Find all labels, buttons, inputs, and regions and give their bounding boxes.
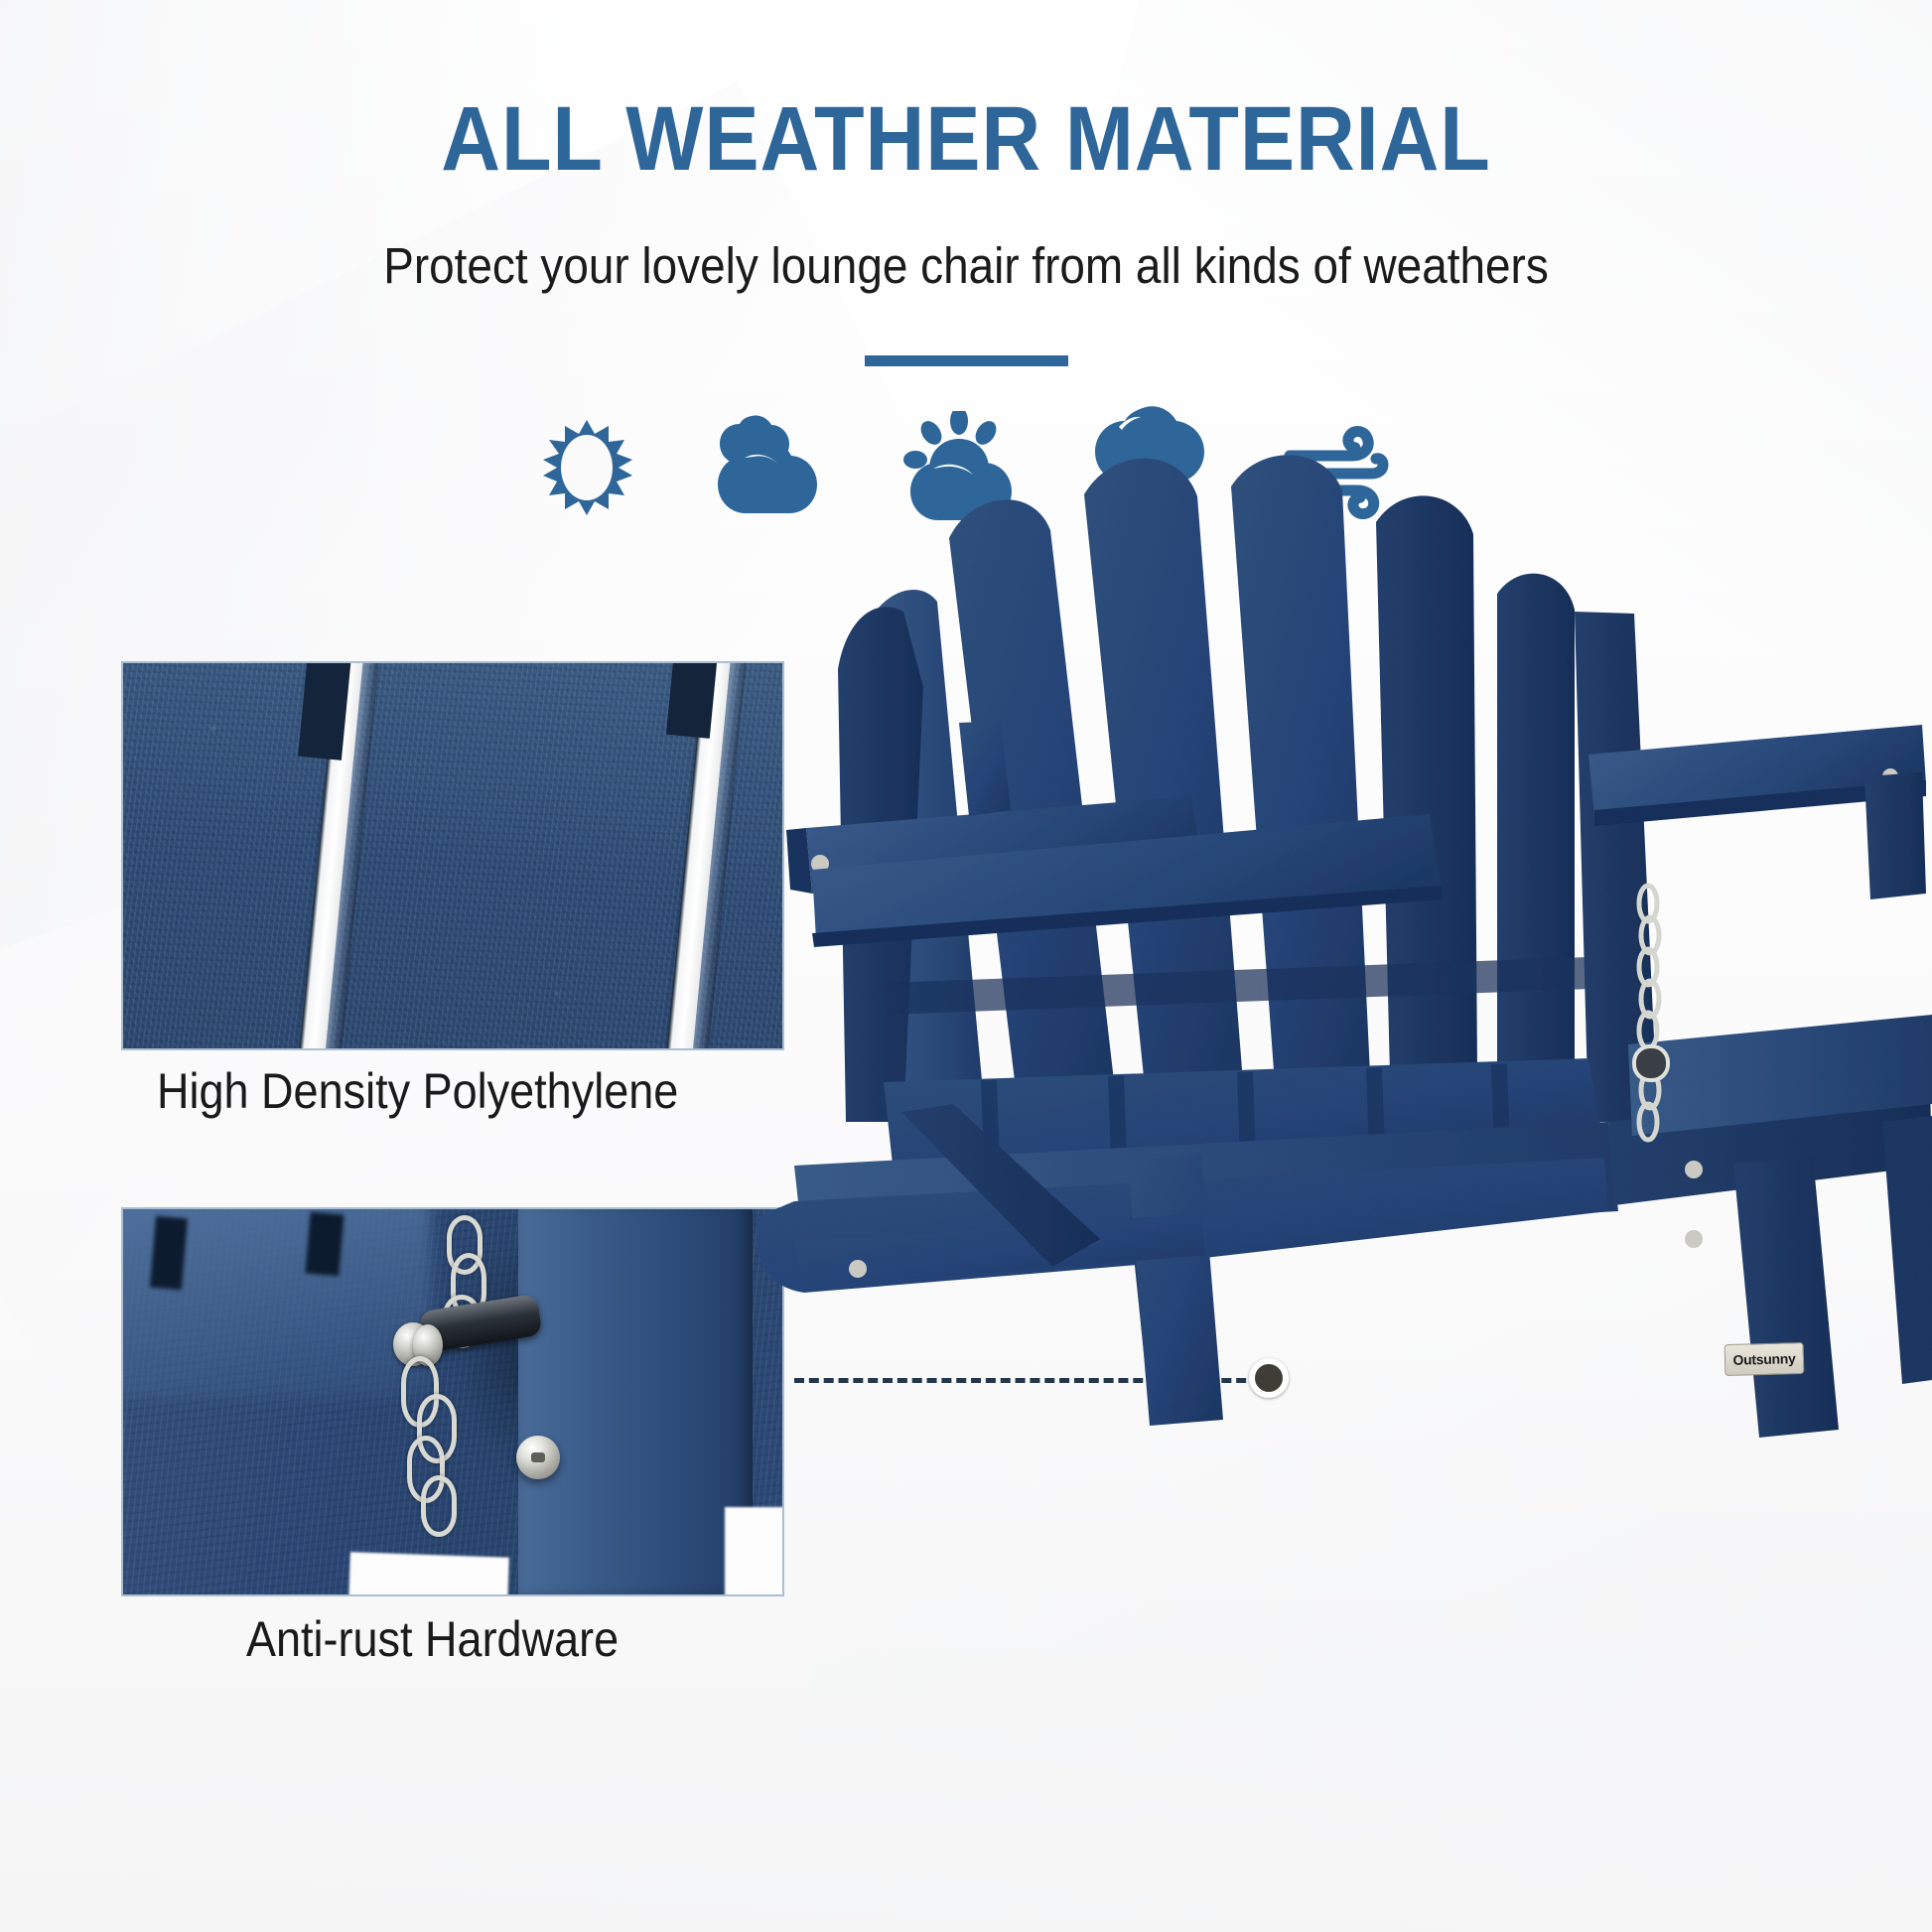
feature-photo-hardware	[121, 1207, 784, 1596]
sun-icon	[533, 412, 640, 523]
page-title: ALL WEATHER MATERIAL	[96, 87, 1835, 192]
frame-screw	[849, 1260, 867, 1278]
feature-photo-hdpe	[121, 661, 784, 1050]
product-feature-graphic: ALL WEATHER MATERIAL Protect your lovely…	[0, 0, 1932, 1932]
chain-pin	[1634, 1046, 1668, 1080]
chair-frame-post	[518, 1207, 753, 1596]
chain-link	[421, 1475, 457, 1537]
blurred-slat-gap	[305, 1212, 344, 1277]
feature-caption-hardware: Anti-rust Hardware	[246, 1610, 619, 1668]
chair-far-leg	[1882, 1116, 1932, 1384]
frame-screw	[1685, 1230, 1703, 1248]
back-slat	[1497, 574, 1575, 1072]
background-gap	[348, 1552, 509, 1596]
chair-rear-leg-right	[1733, 1156, 1839, 1438]
frame-screw	[1685, 1161, 1703, 1178]
chair-chain	[1639, 886, 1659, 1140]
anti-rust-screw	[516, 1436, 560, 1479]
title-divider	[865, 355, 1068, 366]
blurred-slat-gap	[150, 1216, 188, 1291]
arm-support-post	[1864, 772, 1926, 899]
feature-caption-hdpe: High Density Polyethylene	[157, 1062, 678, 1120]
brand-label: Outsunny	[1725, 1342, 1805, 1376]
page-subtitle: Protect your lovely lounge chair from al…	[96, 236, 1835, 295]
product-image-chair	[735, 427, 1932, 1817]
